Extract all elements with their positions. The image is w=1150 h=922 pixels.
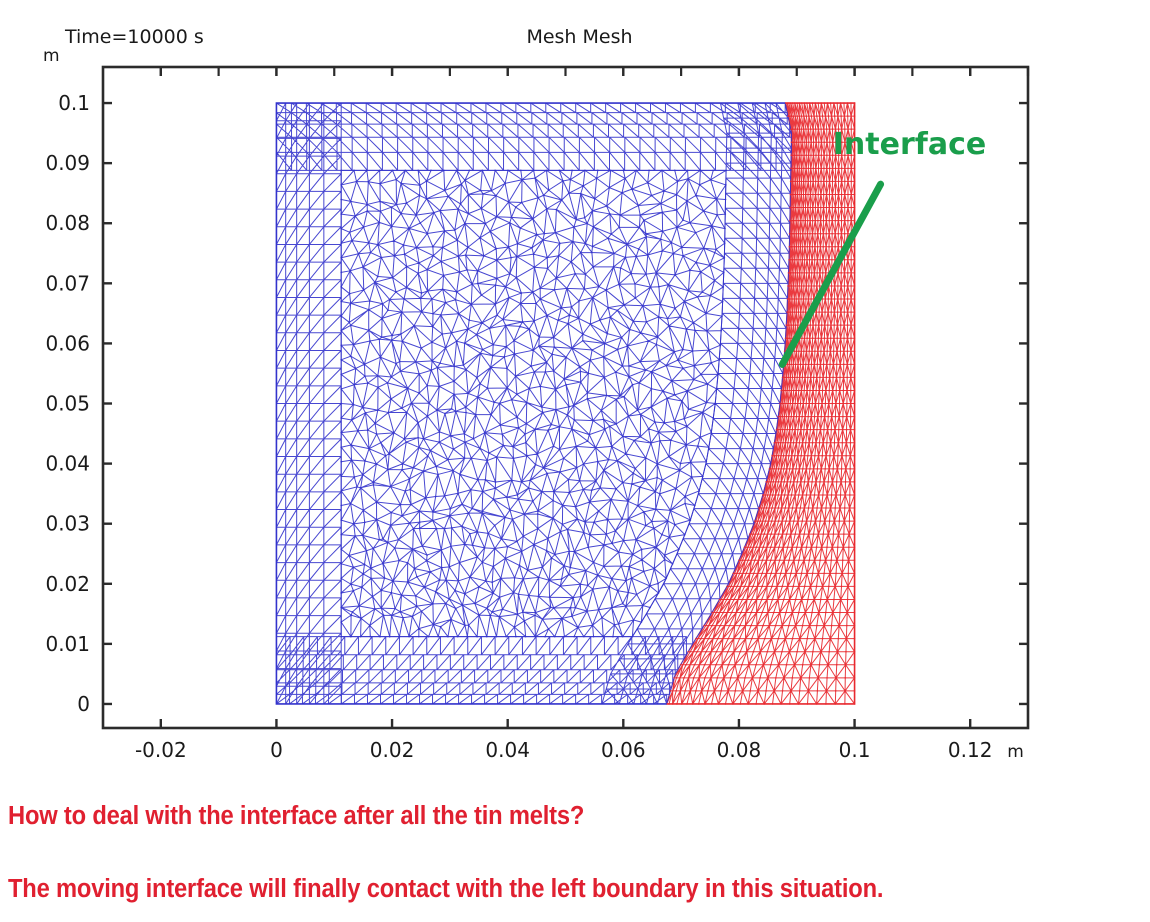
x-tick-label-7: 0.12: [948, 738, 993, 762]
y-tick-label-8: 0.08: [45, 211, 90, 235]
x-tick-label-1: 0: [270, 738, 283, 762]
caption-line-1: How to deal with the interface after all…: [8, 802, 1070, 831]
plot-title: Mesh Mesh: [526, 26, 632, 48]
y-tick-label-10: 0.1: [58, 91, 90, 115]
figure-background: [0, 0, 1150, 790]
x-tick-label-4: 0.06: [601, 738, 646, 762]
caption-block: How to deal with the interface after all…: [8, 790, 1150, 904]
y-tick-label-1: 0.01: [45, 632, 90, 656]
mesh-plot-svg: -0.0200.020.040.060.080.10.12m00.010.020…: [0, 0, 1150, 790]
x-tick-label-5: 0.08: [717, 738, 762, 762]
y-axis-unit: m: [43, 46, 60, 66]
x-axis-unit: m: [1007, 742, 1024, 762]
caption-line-2: The moving interface will finally contac…: [8, 875, 1070, 904]
x-tick-label-6: 0.1: [839, 738, 871, 762]
interface-label: Interface: [833, 127, 986, 162]
y-tick-label-4: 0.04: [45, 452, 90, 476]
y-tick-label-5: 0.05: [45, 392, 90, 416]
y-tick-label-6: 0.06: [45, 331, 90, 355]
time-label: Time=10000 s: [64, 26, 204, 48]
y-tick-label-3: 0.03: [45, 512, 90, 536]
mesh-figure: -0.0200.020.040.060.080.10.12m00.010.020…: [0, 0, 1150, 790]
y-tick-label-9: 0.09: [45, 151, 90, 175]
y-tick-label-2: 0.02: [45, 572, 90, 596]
x-tick-label-3: 0.04: [485, 738, 530, 762]
x-tick-label-2: 0.02: [370, 738, 415, 762]
y-tick-label-0: 0: [77, 692, 90, 716]
x-tick-label-0: -0.02: [135, 738, 187, 762]
y-tick-label-7: 0.07: [45, 271, 90, 295]
